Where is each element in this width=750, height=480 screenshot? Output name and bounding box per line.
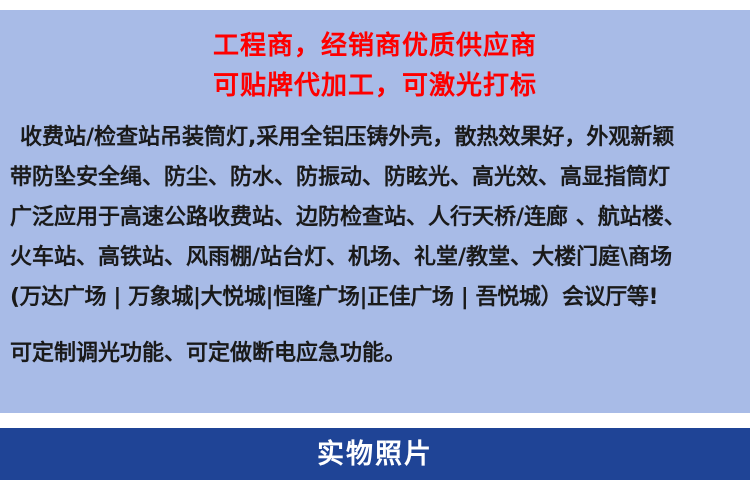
description-spacer: [10, 318, 744, 334]
product-detail-image: 工程商，经销商优质供应商 可贴牌代加工，可激光打标 收费站/检查站吊装筒灯,采用…: [0, 0, 750, 480]
description-line-1: 收费站/检查站吊装筒灯,采用全铝压铸外壳，散热效果好，外观新颖: [10, 118, 744, 158]
section-banner-title: 实物照片: [317, 441, 433, 468]
headline-primary: 工程商，经销商优质供应商: [0, 26, 750, 66]
description-line-4: 火车站、高铁站、风雨棚/站台灯、机场、礼堂/教堂、大楼门庭\商场: [10, 238, 744, 278]
section-banner: 实物照片: [0, 428, 750, 480]
headline-block: 工程商，经销商优质供应商 可贴牌代加工，可激光打标: [0, 10, 750, 106]
description-block: 收费站/检查站吊装筒灯,采用全铝压铸外壳，散热效果好，外观新颖 带防坠安全绳、防…: [0, 118, 750, 374]
description-line-3: 广泛应用于高速公路收费站、边防检查站、人行天桥/连廊 、航站楼、: [10, 198, 744, 238]
headline-secondary: 可贴牌代加工，可激光打标: [0, 66, 750, 106]
description-line-5: (万达广场 | 万象城|大悦城|恒隆广场|正佳广场 | 吾悦城）会议厅等!: [10, 278, 744, 318]
info-panel: 工程商，经销商优质供应商 可贴牌代加工，可激光打标 收费站/检查站吊装筒灯,采用…: [0, 10, 750, 413]
description-footer-line: 可定制调光功能、可定做断电应急功能。: [10, 334, 744, 374]
section-divider: [0, 413, 750, 428]
description-line-2: 带防坠安全绳、防尘、防水、防振动、防眩光、高光效、高显指筒灯: [10, 158, 744, 198]
